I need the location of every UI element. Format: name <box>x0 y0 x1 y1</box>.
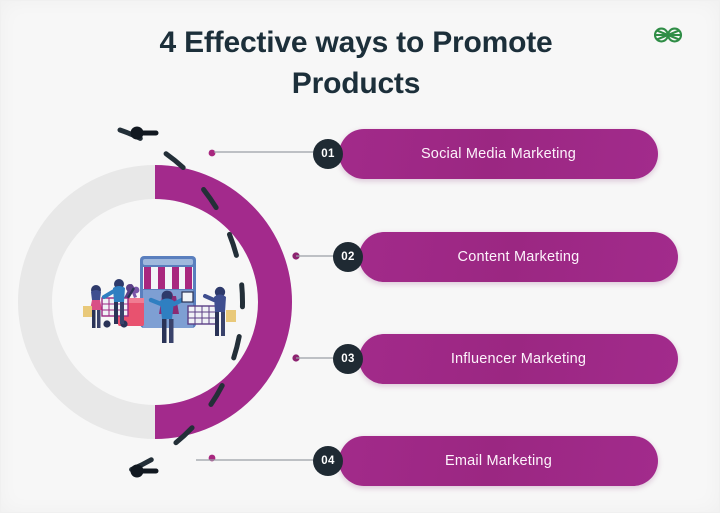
infographic-canvas: 4 Effective ways to Promote Products <box>0 0 720 513</box>
ring-marker-dot-2 <box>292 252 299 259</box>
ring-endcap-top <box>131 127 157 140</box>
list-item[interactable]: Content Marketing 02 <box>333 232 678 282</box>
item-number-badge: 01 <box>313 139 343 169</box>
shoppers-storefront-illustration <box>74 244 246 356</box>
item-label: Influencer Marketing <box>451 351 586 367</box>
item-number-badge: 04 <box>313 446 343 476</box>
item-pill[interactable]: Content Marketing <box>359 232 678 282</box>
list-item[interactable]: Email Marketing 04 <box>313 436 658 486</box>
ring-marker-dot-3 <box>292 354 299 361</box>
item-number-badge: 03 <box>333 344 363 374</box>
item-pill[interactable]: Email Marketing <box>339 436 658 486</box>
geeksforgeeks-logo <box>648 20 688 50</box>
item-label: Email Marketing <box>445 453 552 469</box>
item-label: Content Marketing <box>458 249 580 265</box>
item-pill[interactable]: Social Media Marketing <box>339 129 658 179</box>
ring-marker-dot-4 <box>209 455 216 462</box>
item-pill[interactable]: Influencer Marketing <box>359 334 678 384</box>
ring-marker-dot-1 <box>209 150 216 157</box>
list-item[interactable]: Social Media Marketing 01 <box>313 129 658 179</box>
item-label: Social Media Marketing <box>421 146 576 162</box>
list-item[interactable]: Influencer Marketing 03 <box>333 334 678 384</box>
item-number-badge: 02 <box>333 242 363 272</box>
